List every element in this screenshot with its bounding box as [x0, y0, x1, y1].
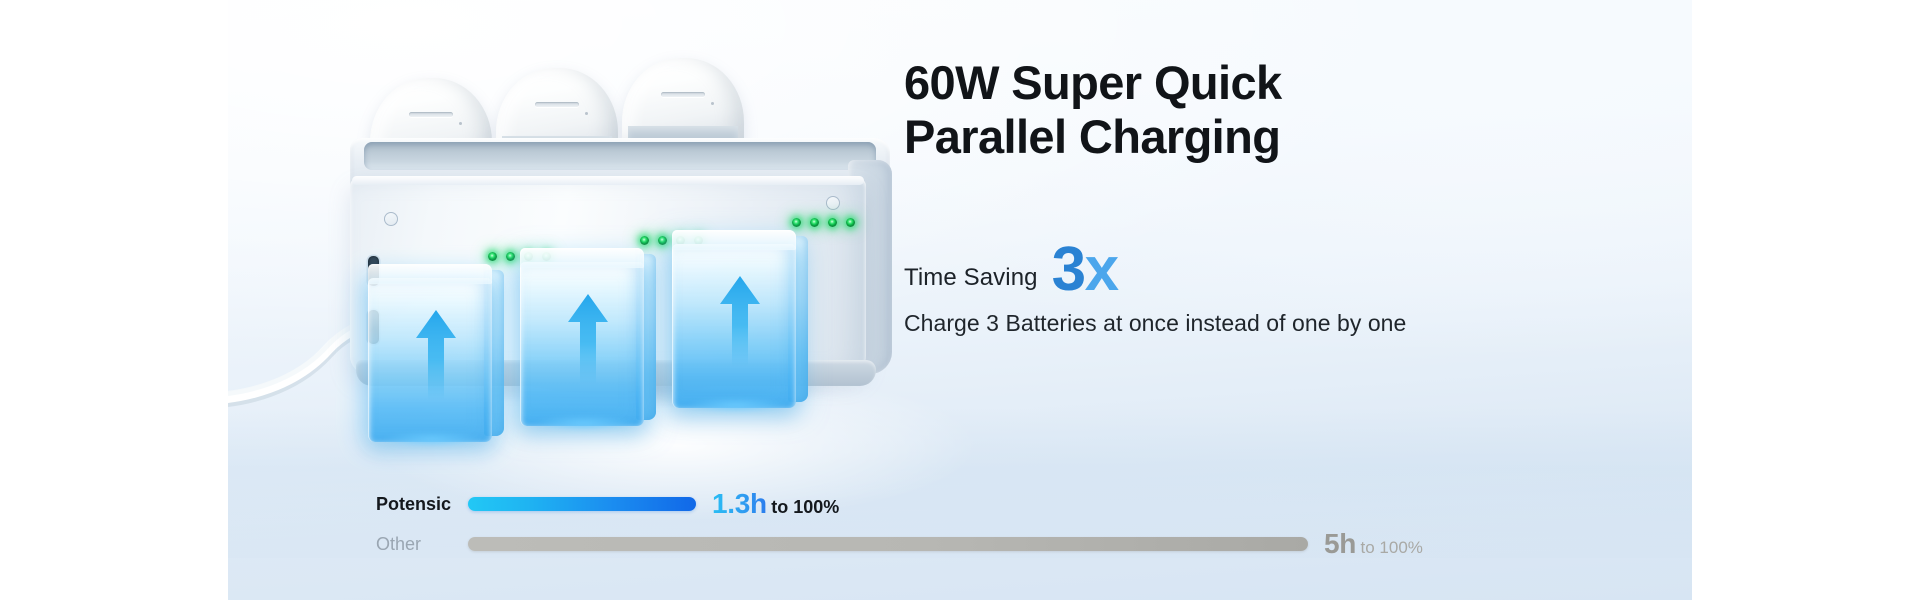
comparison-track-other [468, 537, 1308, 551]
comparison-bar-fill-other [468, 537, 1308, 551]
battery-block-top-3 [672, 230, 796, 250]
headline-line-2: Parallel Charging [904, 110, 1664, 164]
page-title: 60W Super Quick Parallel Charging [904, 56, 1664, 163]
battery-marker-1 [459, 122, 462, 125]
comparison-row-potensic: Potensic 1.3h to 100% [376, 484, 1536, 524]
battery-top-3 [622, 58, 744, 150]
time-saving-subtitle: Charge 3 Batteries at once instead of on… [904, 310, 1664, 337]
charge-time-comparison-chart: Potensic 1.3h to 100% Other 5h to 100% [376, 484, 1536, 564]
comparison-label-potensic: Potensic [376, 494, 468, 515]
charging-battery-block-1 [368, 264, 504, 442]
dock-indicator-circle-right [826, 196, 840, 210]
battery-marker-3 [711, 102, 714, 105]
comparison-row-other: Other 5h to 100% [376, 524, 1536, 564]
dock-inner-well [364, 142, 876, 170]
dock-front-ledge [352, 176, 864, 185]
charging-battery-block-2 [520, 248, 656, 426]
multiplier-unit: x [1085, 235, 1118, 304]
battery-vent-1 [409, 112, 453, 117]
led-dot [488, 252, 497, 261]
comparison-value-potensic: 1.3h to 100% [712, 488, 839, 520]
marketing-banner: 60W Super Quick Parallel Charging Time S… [0, 0, 1920, 600]
comparison-value-big-potensic: 1.3h [712, 488, 767, 519]
battery-vent-2 [535, 102, 579, 107]
led-dot [506, 252, 515, 261]
product-image-charging-hub [328, 40, 948, 440]
battery-marker-2 [585, 112, 588, 115]
time-saving-multiplier: 3x [1052, 243, 1118, 298]
led-indicator-row-3 [792, 218, 855, 227]
led-dot [640, 236, 649, 245]
comparison-value-small-potensic: to 100% [771, 497, 839, 517]
battery-glow-1 [362, 428, 502, 450]
battery-vent-3 [661, 92, 705, 97]
led-dot [810, 218, 819, 227]
charging-up-arrow-icon [414, 308, 458, 400]
dock-indicator-circle-left [384, 212, 398, 226]
charging-battery-block-3 [672, 230, 808, 408]
multiplier-number: 3 [1052, 235, 1085, 304]
headline-line-1: 60W Super Quick [904, 56, 1282, 109]
comparison-value-other: 5h to 100% [1324, 528, 1423, 560]
led-dot [846, 218, 855, 227]
comparison-value-big-other: 5h [1324, 528, 1356, 559]
comparison-bar-fill-potensic [468, 497, 696, 511]
comparison-value-small-other: to 100% [1361, 538, 1423, 557]
content-panel: 60W Super Quick Parallel Charging Time S… [228, 0, 1692, 600]
battery-block-top-1 [368, 264, 492, 284]
comparison-label-other: Other [376, 534, 468, 555]
time-saving-label: Time Saving [904, 264, 1038, 298]
charging-up-arrow-icon [566, 292, 610, 384]
battery-block-top-2 [520, 248, 644, 268]
battery-glow-3 [666, 394, 806, 416]
time-saving-row: Time Saving 3x [904, 243, 1664, 298]
led-dot [792, 218, 801, 227]
marketing-copy: 60W Super Quick Parallel Charging Time S… [904, 56, 1664, 337]
led-dot [828, 218, 837, 227]
charging-up-arrow-icon [718, 274, 762, 366]
led-dot [658, 236, 667, 245]
battery-glow-2 [514, 412, 654, 434]
comparison-track-potensic [468, 497, 696, 511]
